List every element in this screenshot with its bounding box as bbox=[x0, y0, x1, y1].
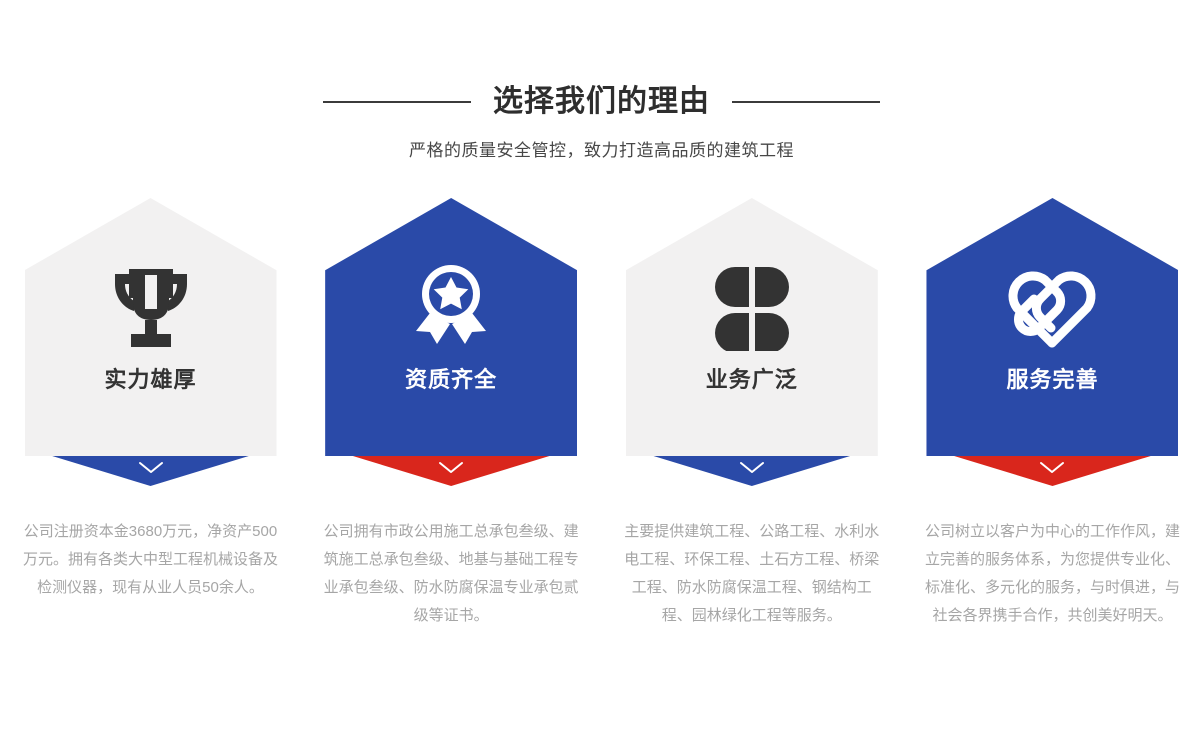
feature-highlights-section: 选择我们的理由 严格的质量安全管控，致力打造高品质的建筑工程 bbox=[0, 0, 1203, 736]
page-title: 选择我们的理由 bbox=[493, 82, 710, 122]
feature-card-service[interactable]: 服务完善 bbox=[910, 198, 1195, 488]
hexagon-body: 实力雄厚 bbox=[25, 198, 277, 456]
feature-description-list: 公司注册资本金3680万元，净资产500万元。拥有各类大中型工程机械设备及检测仪… bbox=[0, 518, 1203, 630]
clover-four-petal-icon bbox=[709, 258, 795, 354]
card-label: 业务广泛 bbox=[706, 362, 798, 394]
card-description: 主要提供建筑工程、公路工程、水利水电工程、环保工程、土石方工程、桥梁工程、防水防… bbox=[609, 518, 894, 630]
hexagon-body: 资质齐全 bbox=[325, 198, 577, 456]
title-rule-left bbox=[323, 101, 471, 103]
title-rule-right bbox=[732, 101, 880, 103]
hexagon-badge[interactable]: 资质齐全 bbox=[325, 198, 577, 488]
feature-card-qualification[interactable]: 资质齐全 bbox=[309, 198, 594, 488]
interlocking-hearts-icon bbox=[1004, 258, 1100, 354]
card-description: 公司拥有市政公用施工总承包叁级、建筑施工总承包叁级、地基与基础工程专业承包叁级、… bbox=[309, 518, 594, 630]
award-medal-icon bbox=[408, 258, 494, 354]
card-description: 公司注册资本金3680万元，净资产500万元。拥有各类大中型工程机械设备及检测仪… bbox=[8, 518, 293, 630]
feature-card-list: 实力雄厚 bbox=[0, 198, 1203, 488]
hexagon-body: 业务广泛 bbox=[626, 198, 878, 456]
card-label: 服务完善 bbox=[1006, 362, 1098, 394]
feature-card-business-scope[interactable]: 业务广泛 bbox=[609, 198, 894, 488]
trophy-icon bbox=[109, 258, 193, 354]
card-description: 公司树立以客户为中心的工作作风，建立完善的服务体系，为您提供专业化、标准化、多元… bbox=[910, 518, 1195, 630]
hexagon-badge[interactable]: 业务广泛 bbox=[626, 198, 878, 488]
card-tail bbox=[626, 456, 878, 486]
card-label: 资质齐全 bbox=[405, 362, 497, 394]
section-subtitle: 严格的质量安全管控，致力打造高品质的建筑工程 bbox=[0, 136, 1203, 161]
hexagon-body: 服务完善 bbox=[926, 198, 1178, 456]
card-label: 实力雄厚 bbox=[104, 362, 196, 394]
hexagon-badge[interactable]: 实力雄厚 bbox=[25, 198, 277, 488]
section-heading: 选择我们的理由 严格的质量安全管控，致力打造高品质的建筑工程 bbox=[0, 82, 1203, 161]
card-tail bbox=[25, 456, 277, 486]
card-tail bbox=[325, 456, 577, 486]
card-tail bbox=[926, 456, 1178, 486]
title-row: 选择我们的理由 bbox=[0, 82, 1203, 122]
hexagon-badge[interactable]: 服务完善 bbox=[926, 198, 1178, 488]
feature-card-strength[interactable]: 实力雄厚 bbox=[8, 198, 293, 488]
